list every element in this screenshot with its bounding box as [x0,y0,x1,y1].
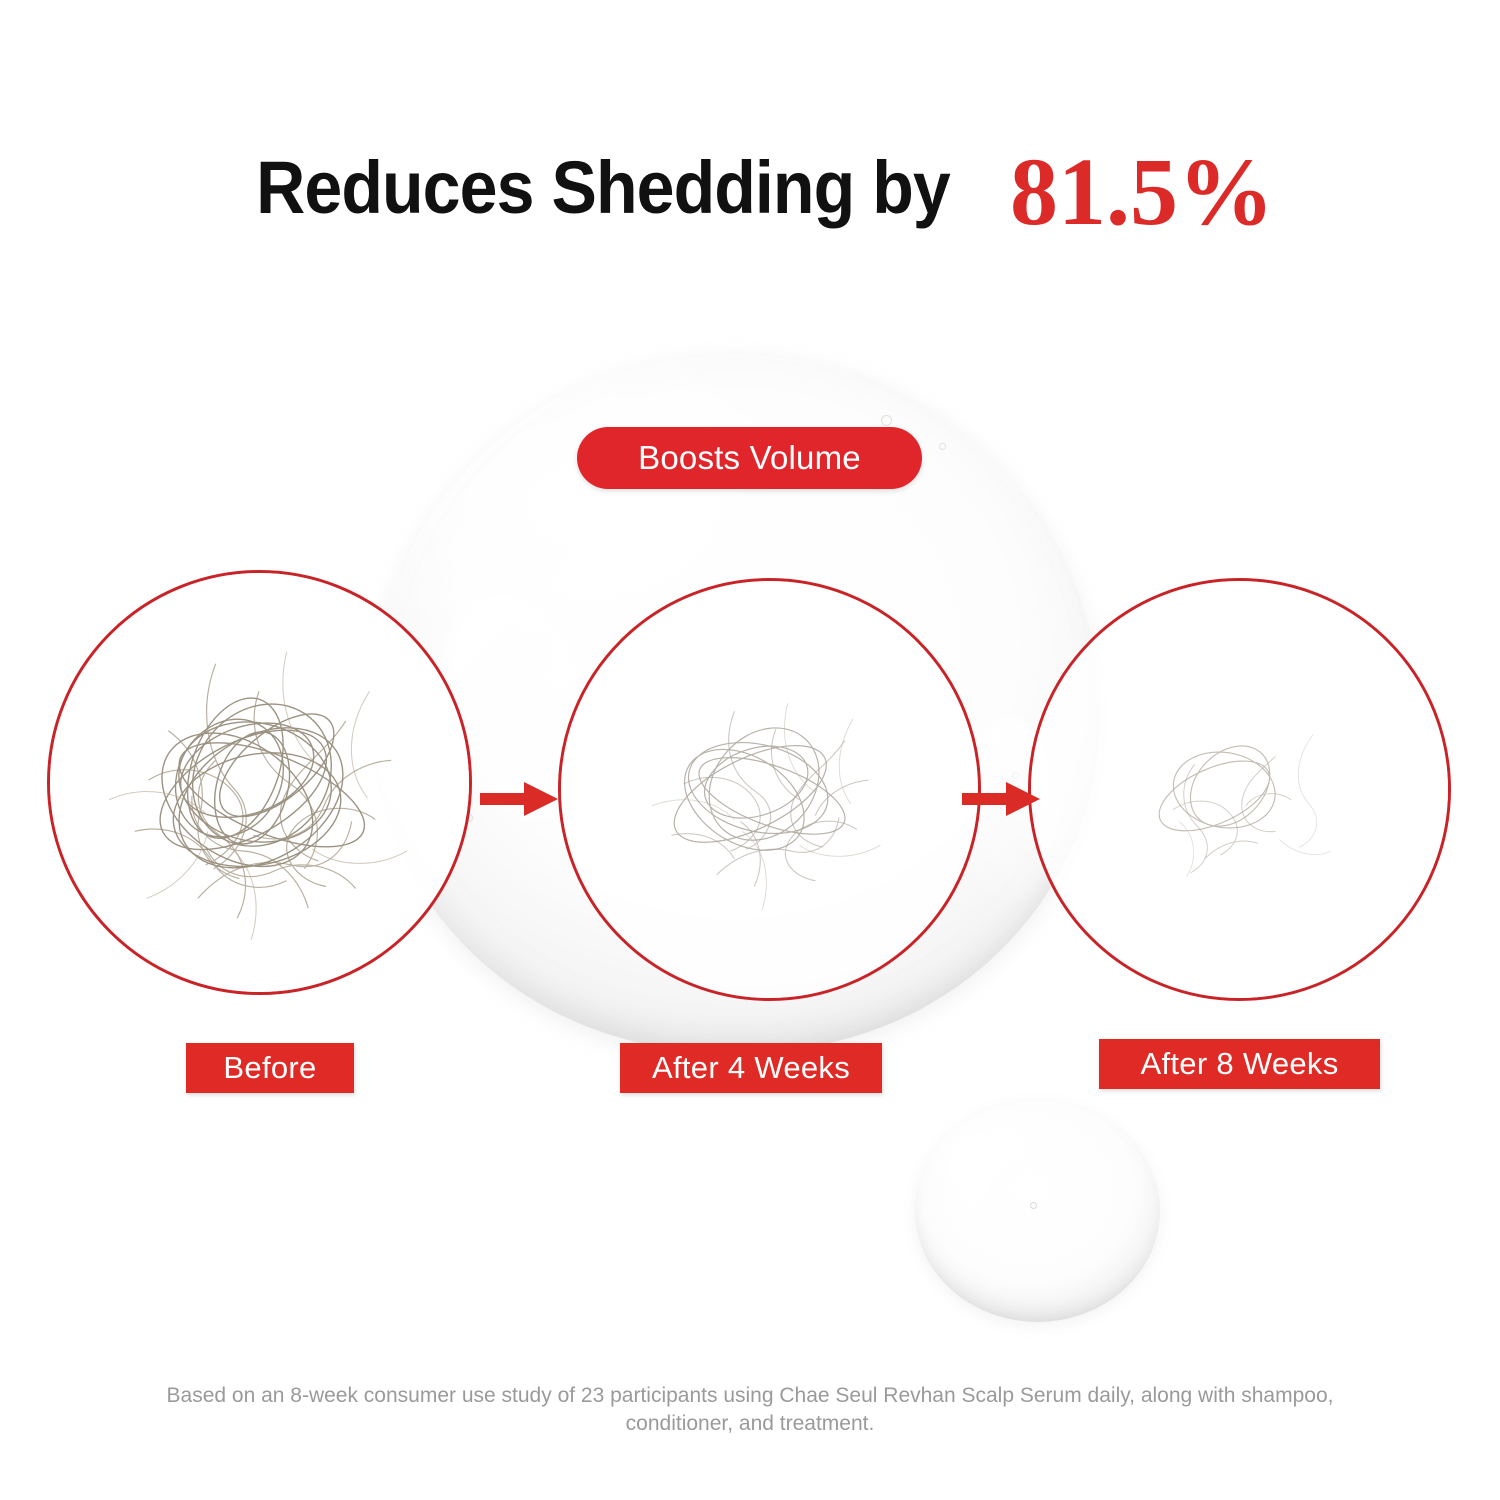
stage-label-after-4-weeks: After 4 Weeks [620,1043,882,1093]
hair-strands-after-8-weeks [1031,581,1448,998]
stage-circle-after-4-weeks [558,578,981,1001]
gel-bubble-speck [939,443,946,450]
stage-circle-before [47,570,472,995]
stat-percentage: 81.5% [1010,144,1274,240]
gel-bubble-speck [881,415,892,426]
stage-label-text: Before [223,1050,316,1086]
promo-infographic: Reduces Shedding by81.5% Boosts Volume [0,0,1500,1500]
droplet-bubble-speck [1030,1202,1037,1209]
hair-strands-before [50,573,469,992]
page-title: Reduces Shedding by [256,151,950,225]
boosts-volume-label: Boosts Volume [638,439,861,477]
arrow-before-to-4weeks-icon [480,782,558,816]
arrow-4weeks-to-8weeks-icon [962,782,1040,816]
stage-label-before: Before [186,1043,354,1093]
stage-circle-after-8-weeks [1028,578,1451,1001]
stage-label-text: After 8 Weeks [1140,1046,1338,1082]
hair-strands-after-4-weeks [561,581,978,998]
arrow-head [1006,782,1040,816]
stage-label-after-8-weeks: After 8 Weeks [1099,1039,1380,1089]
gel-bubble-speck [1012,772,1019,779]
boosts-volume-badge: Boosts Volume [577,427,922,489]
headline: Reduces Shedding by81.5% [0,140,1500,236]
arrow-head [524,782,558,816]
stage-label-text: After 4 Weeks [652,1050,850,1086]
serum-droplet [915,1100,1160,1322]
footnote-disclaimer: Based on an 8-week consumer use study of… [150,1382,1350,1439]
